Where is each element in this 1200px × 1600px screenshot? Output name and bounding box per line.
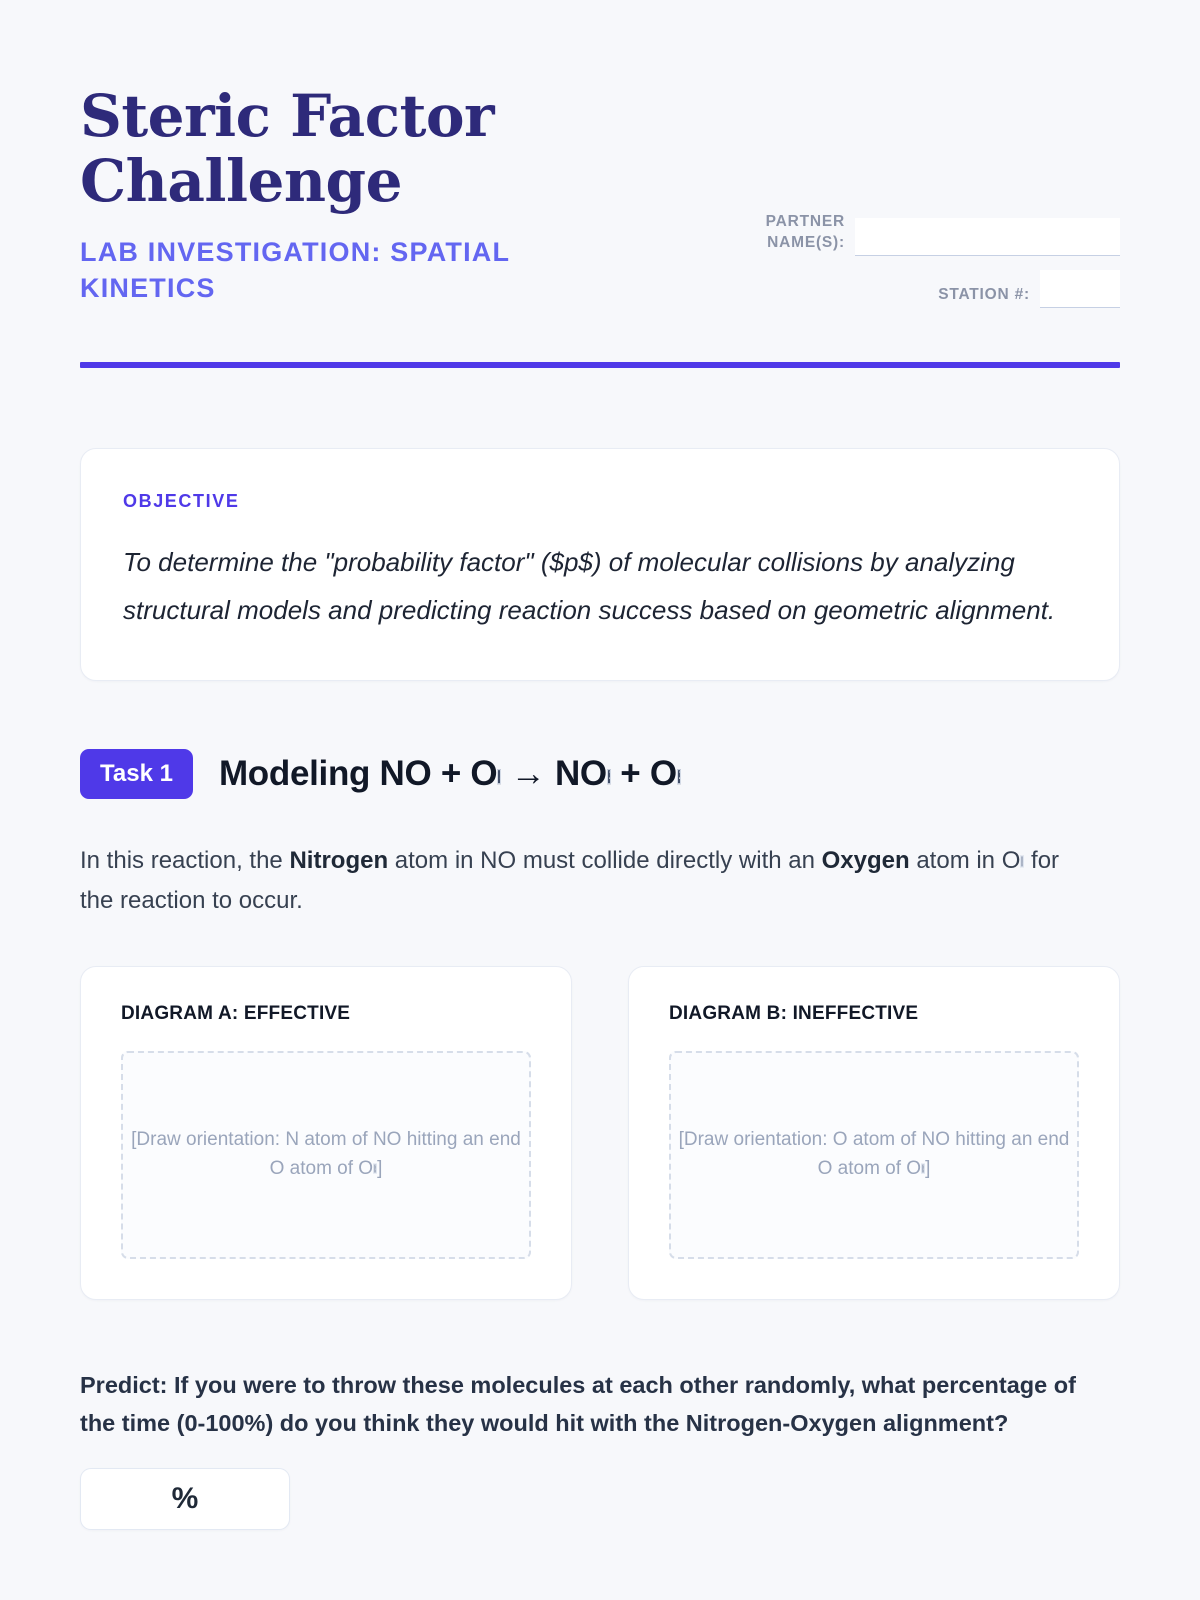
task-badge: Task 1 xyxy=(80,749,193,799)
task-description-part-3: atom in O xyxy=(910,847,1021,874)
subscript-two-glyph-2: 2 xyxy=(607,769,611,784)
subscript-two-glyph-1: 2 xyxy=(497,769,501,784)
header-title-block: Steric Factor Challenge Lab Investigatio… xyxy=(80,80,600,307)
task-description-bold-nitrogen: Nitrogen xyxy=(289,847,388,874)
task-description: In this reaction, the Nitrogen atom in N… xyxy=(80,841,1065,922)
task-title-arrow-spacer xyxy=(501,754,510,793)
diagram-a-title: Diagram A: Effective xyxy=(121,1003,531,1025)
objective-card: Objective To determine the "probability … xyxy=(80,448,1120,681)
subscript-two-glyph-3: 2 xyxy=(677,769,681,784)
task-title-prefix: Modeling NO + O xyxy=(219,754,497,793)
diagram-b-title: Diagram B: Ineffective xyxy=(669,1003,1079,1025)
station-number-label: Station #: xyxy=(938,285,1030,308)
diagram-card-a: Diagram A: Effective [Draw orientation: … xyxy=(80,966,572,1300)
subscript-two-glyph-a: 2 xyxy=(373,1163,377,1173)
diagram-a-draw-area[interactable]: [Draw orientation: N atom of NO hitting … xyxy=(121,1051,531,1259)
diagram-b-hint-post: ] xyxy=(925,1158,930,1179)
task-title-spacer-2 xyxy=(546,754,555,793)
task-description-part-1: In this reaction, the xyxy=(80,847,289,874)
header-fields-block: Partner Name(s): Station #: xyxy=(655,80,1120,322)
task-description-part-2: atom in NO must collide directly with an xyxy=(388,847,822,874)
page-header: Steric Factor Challenge Lab Investigatio… xyxy=(80,80,1120,322)
subscript-two-glyph-body: 2 xyxy=(1020,856,1024,868)
page-subtitle: Lab Investigation: Spatial Kinetics xyxy=(80,234,600,307)
task-title: Modeling NO + O2 → NO2 + O2 xyxy=(219,754,681,794)
diagram-b-hint: [Draw orientation: O atom of NO hitting … xyxy=(675,1126,1073,1183)
subscript-two-glyph-b: 2 xyxy=(921,1163,925,1173)
predict-answer-box[interactable]: % xyxy=(80,1468,290,1530)
predict-block: Predict: If you were to throw these mole… xyxy=(80,1366,1120,1530)
station-number-input[interactable] xyxy=(1040,270,1120,308)
diagram-grid: Diagram A: Effective [Draw orientation: … xyxy=(80,966,1120,1300)
partner-name-row: Partner Name(s): xyxy=(655,212,1120,256)
diagram-b-draw-area[interactable]: [Draw orientation: O atom of NO hitting … xyxy=(669,1051,1079,1259)
percent-unit-label: % xyxy=(172,1482,199,1516)
task-title-arrow: → xyxy=(511,754,546,793)
diagram-b-hint-pre: [Draw orientation: O atom of NO hitting … xyxy=(679,1129,1070,1179)
predict-question: Predict: If you were to throw these mole… xyxy=(80,1366,1090,1442)
partner-name-input[interactable] xyxy=(855,218,1120,256)
worksheet-page: Steric Factor Challenge Lab Investigatio… xyxy=(0,0,1200,1600)
diagram-a-hint: [Draw orientation: N atom of NO hitting … xyxy=(127,1126,525,1183)
task-title-plus: + O xyxy=(620,754,677,793)
partner-name-label: Partner Name(s): xyxy=(740,212,845,256)
page-content: Steric Factor Challenge Lab Investigatio… xyxy=(0,0,1200,1530)
task-heading-row: Task 1 Modeling NO + O2 → NO2 + O2 xyxy=(80,749,1120,799)
task-title-spacer-3 xyxy=(611,754,620,793)
diagram-a-hint-pre: [Draw orientation: N atom of NO hitting … xyxy=(131,1129,521,1179)
diagram-a-hint-post: ] xyxy=(377,1158,382,1179)
objective-label: Objective xyxy=(123,491,1077,512)
header-divider xyxy=(80,362,1120,368)
task-title-mid: NO xyxy=(555,754,607,793)
page-title: Steric Factor Challenge xyxy=(80,84,500,214)
diagram-card-b: Diagram B: Ineffective [Draw orientation… xyxy=(628,966,1120,1300)
station-number-row: Station #: xyxy=(655,270,1120,308)
objective-text: To determine the "probability factor" ($… xyxy=(123,538,1077,634)
task-description-bold-oxygen: Oxygen xyxy=(822,847,910,874)
